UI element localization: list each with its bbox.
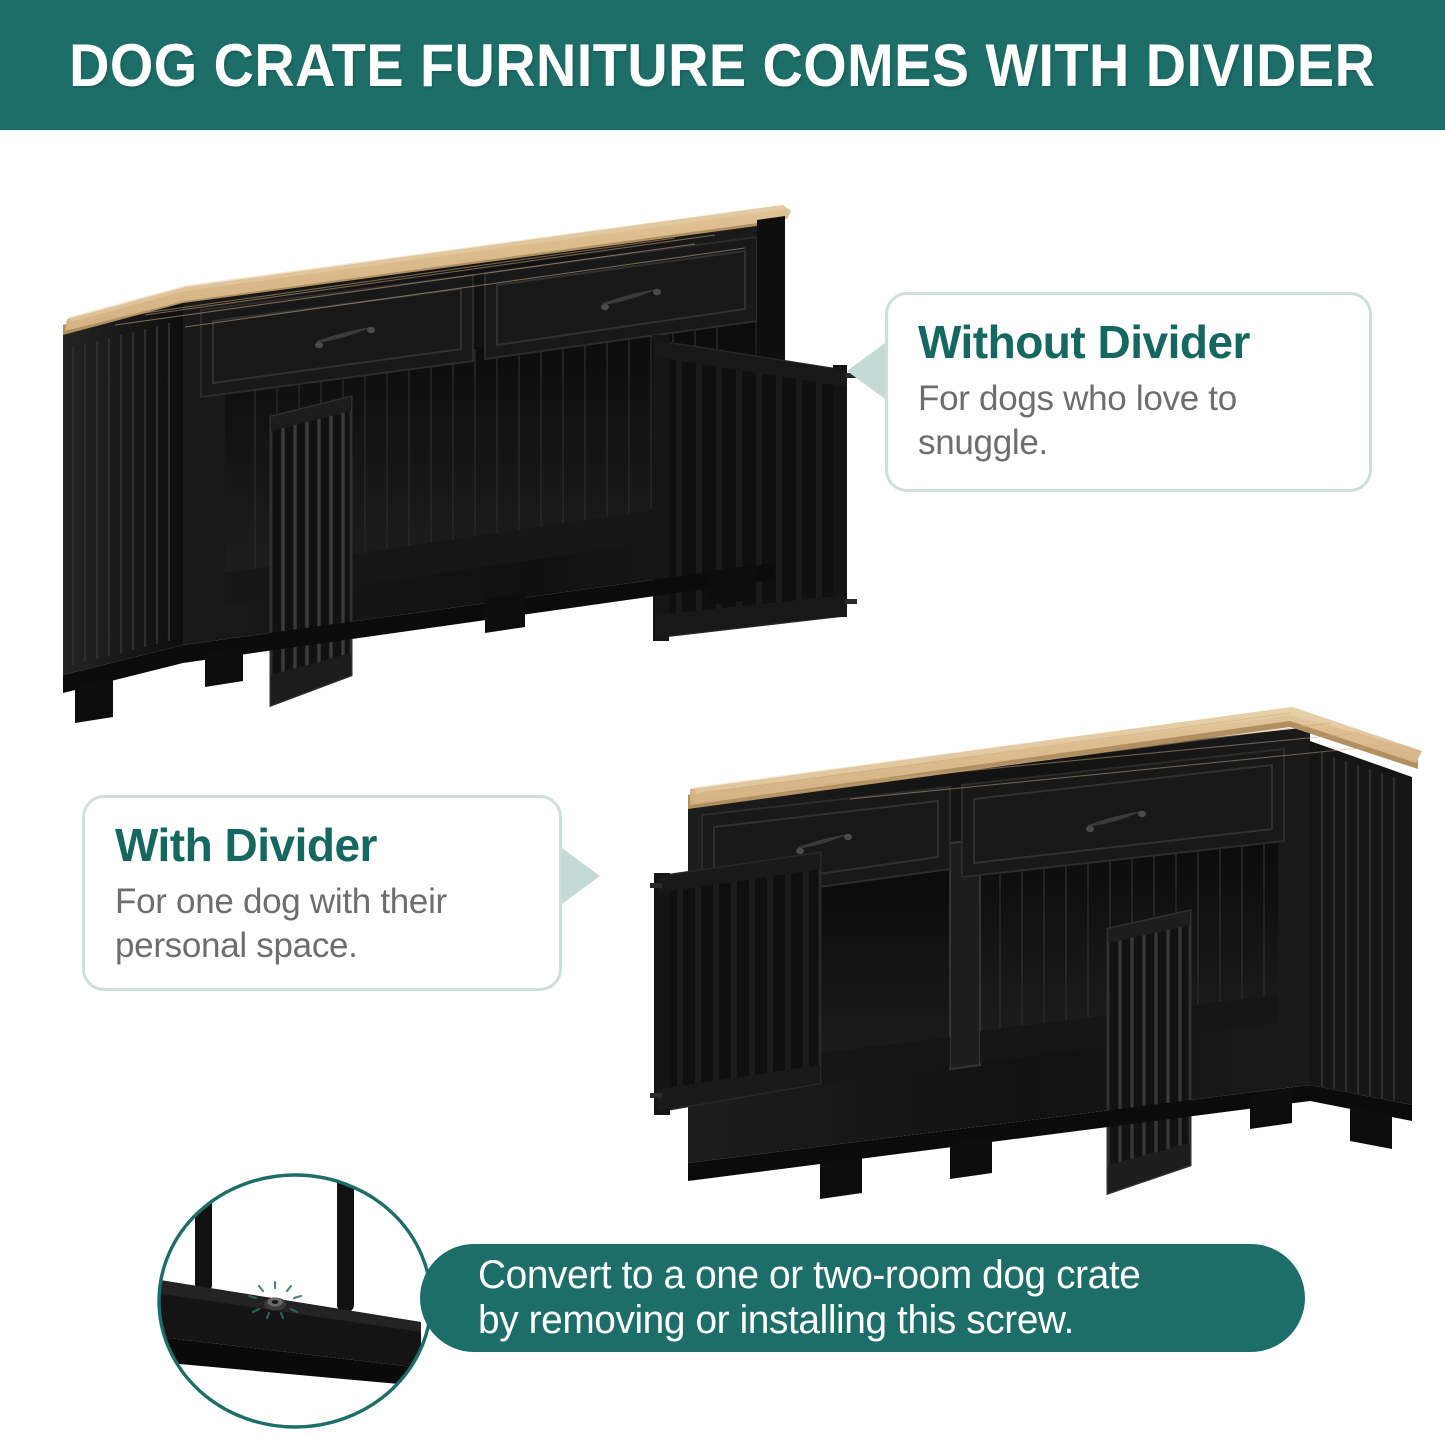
crate-door-right[interactable]: [1108, 911, 1190, 1193]
callout-without-divider-title: Without Divider: [918, 317, 1339, 369]
footer-note-line-2: by removing or installing this screw.: [478, 1298, 1280, 1343]
callout-without-divider-body: For dogs who love to snuggle.: [918, 377, 1339, 467]
callout-without-divider: Without Divider For dogs who love to snu…: [885, 292, 1372, 492]
callout-arrow-icon: [562, 848, 600, 904]
screw-detail-zoom-circle: [155, 1172, 435, 1430]
page-title: DOG CRATE FURNITURE COMES WITH DIVIDER: [69, 31, 1375, 100]
left-side-panel: [63, 293, 183, 675]
right-side-panel: [1310, 741, 1412, 1105]
crate-post-right: [337, 1172, 354, 1312]
callout-with-divider: With Divider For one dog with their pers…: [82, 795, 562, 991]
callout-with-divider-title: With Divider: [115, 820, 529, 872]
crate-door-left[interactable]: [271, 397, 351, 705]
product-image-with-divider: [650, 665, 1440, 1225]
infographic-page: DOG CRATE FURNITURE COMES WITH DIVIDER: [0, 0, 1445, 1438]
product-image-without-divider: [55, 175, 865, 735]
callout-arrow-icon: [847, 343, 885, 399]
header-banner: DOG CRATE FURNITURE COMES WITH DIVIDER: [0, 0, 1445, 130]
crate-post-left: [195, 1172, 212, 1292]
footer-note-pill: Convert to a one or two-room dog crate b…: [420, 1244, 1305, 1352]
callout-with-divider-body: For one dog with their personal space.: [115, 880, 529, 970]
footer-note-line-1: Convert to a one or two-room dog crate: [478, 1253, 1280, 1298]
crate-door-left[interactable]: [650, 853, 820, 1115]
